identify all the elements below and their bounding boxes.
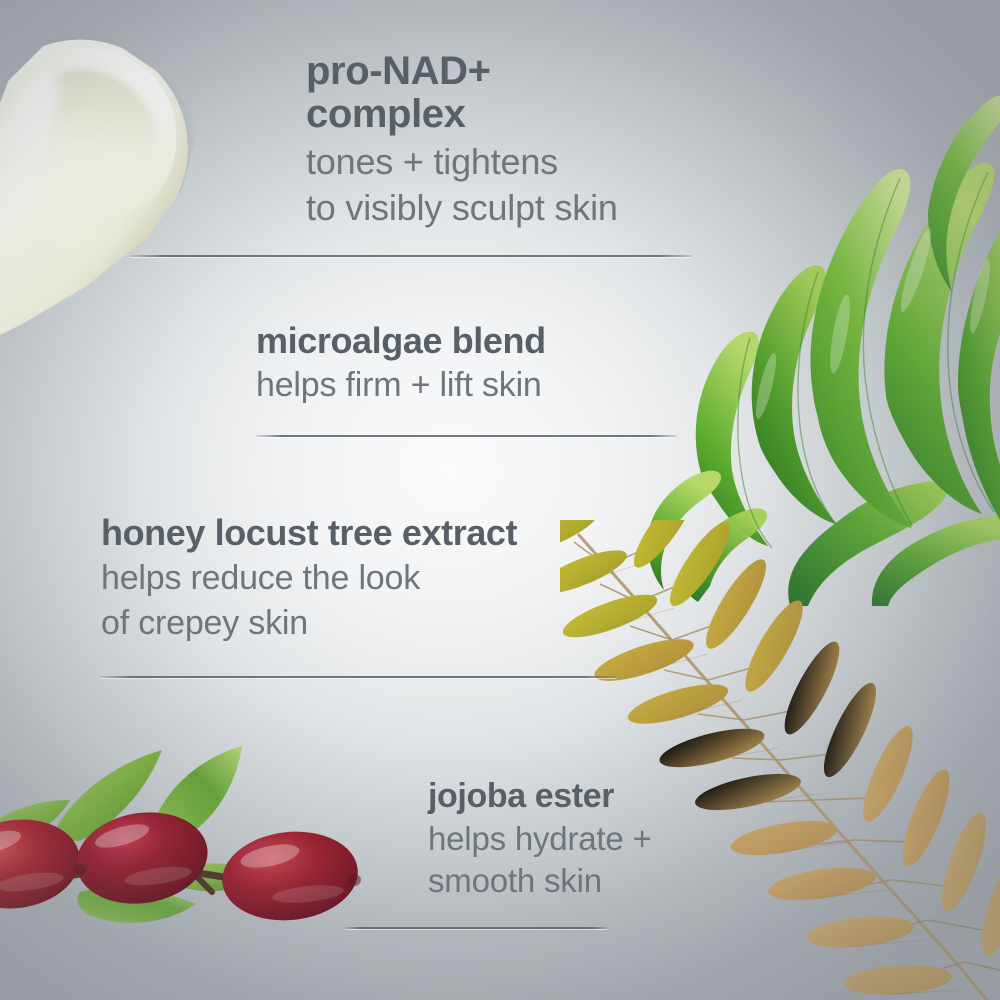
ingredient-block-pro-nad-complex: pro-NAD+ complex tones + tightens to vis… <box>306 50 618 228</box>
ingredient-infographic: pro-NAD+ complex tones + tightens to vis… <box>0 0 1000 1000</box>
divider-3 <box>100 676 616 678</box>
ingredient-benefit-line1: tones + tightens <box>306 141 618 182</box>
ingredient-benefit-line1: helps firm + lift skin <box>256 366 546 405</box>
ingredient-heading-line1: jojoba ester <box>428 778 652 815</box>
ingredient-heading-line1: pro-NAD+ <box>306 50 618 93</box>
ingredient-heading-line1: microalgae blend <box>256 322 546 361</box>
jojoba-berries-image <box>0 742 390 952</box>
ingredient-benefit-line1: helps hydrate + <box>428 820 652 858</box>
ingredient-benefit-line2: smooth skin <box>428 862 652 900</box>
ingredient-heading-line2: complex <box>306 93 618 136</box>
ingredient-benefit-line2: of crepey skin <box>101 604 517 643</box>
cream-swatch-image <box>0 0 265 475</box>
divider-2 <box>256 435 676 437</box>
honey-locust-frond-image <box>560 520 1000 1000</box>
ingredient-block-honey-locust-tree-extract: honey locust tree extract helps reduce t… <box>101 514 517 642</box>
ingredient-block-jojoba-ester: jojoba ester helps hydrate + smooth skin <box>428 778 652 900</box>
ingredient-benefit-line2: to visibly sculpt skin <box>306 187 618 228</box>
ingredient-block-microalgae-blend: microalgae blend helps firm + lift skin <box>256 322 546 405</box>
divider-4 <box>345 927 607 929</box>
divider-1 <box>130 255 692 257</box>
ingredient-benefit-line1: helps reduce the look <box>101 559 517 598</box>
ingredient-heading-line1: honey locust tree extract <box>101 514 517 553</box>
